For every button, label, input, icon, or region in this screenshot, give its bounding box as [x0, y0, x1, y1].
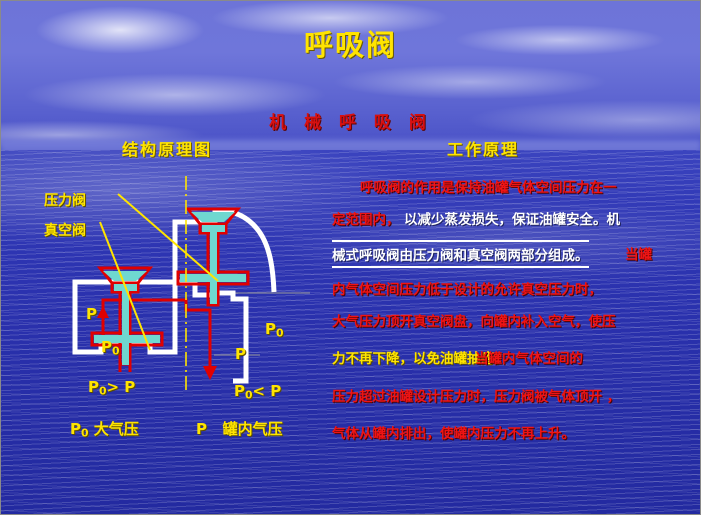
callout-vacuum-valve: 真空阀 [44, 220, 86, 240]
relation-left-op: > P [107, 378, 136, 396]
label-p-left-chamber: P [86, 305, 97, 323]
label-p0-right-sub: 0 [276, 327, 284, 340]
relation-left-sub: 0 [99, 385, 107, 398]
legend-p0-sub: 0 [81, 427, 89, 440]
legend-p: P 罐内气压 [196, 418, 283, 439]
label-p0-left-lower: P0 [101, 338, 120, 358]
label-p-right-base: P [235, 345, 246, 363]
relation-right-op: < P [253, 382, 282, 400]
legend-p-base: P [196, 420, 207, 438]
presentation-slide: 呼吸阀 机 械 呼 吸 阀 结构原理图 工作原理 呼吸阀的作用是保持油罐气体空间… [0, 0, 701, 515]
label-p0-right: P0 [265, 320, 284, 340]
label-p0-right-base: P [265, 320, 276, 338]
relation-left: P0> P [88, 378, 135, 398]
callout-pressure-valve: 压力阀 [44, 190, 86, 210]
label-p0-left-lower-sub: 0 [112, 345, 120, 358]
label-p-right: P [235, 345, 246, 363]
relation-right-sub: 0 [245, 389, 253, 402]
relation-left-base: P [88, 378, 99, 396]
reference-lines [214, 293, 310, 355]
relation-right: P0< P [234, 382, 281, 402]
label-p0-left-lower-base: P [101, 338, 112, 356]
legend-p-desc: 罐内气压 [223, 420, 283, 438]
relation-right-base: P [234, 382, 245, 400]
legend-p0-desc: 大气压 [94, 420, 139, 438]
label-p-left-chamber-base: P [86, 305, 97, 323]
legend-p0: P0 大气压 [70, 418, 139, 440]
legend-p0-base: P [70, 420, 81, 438]
